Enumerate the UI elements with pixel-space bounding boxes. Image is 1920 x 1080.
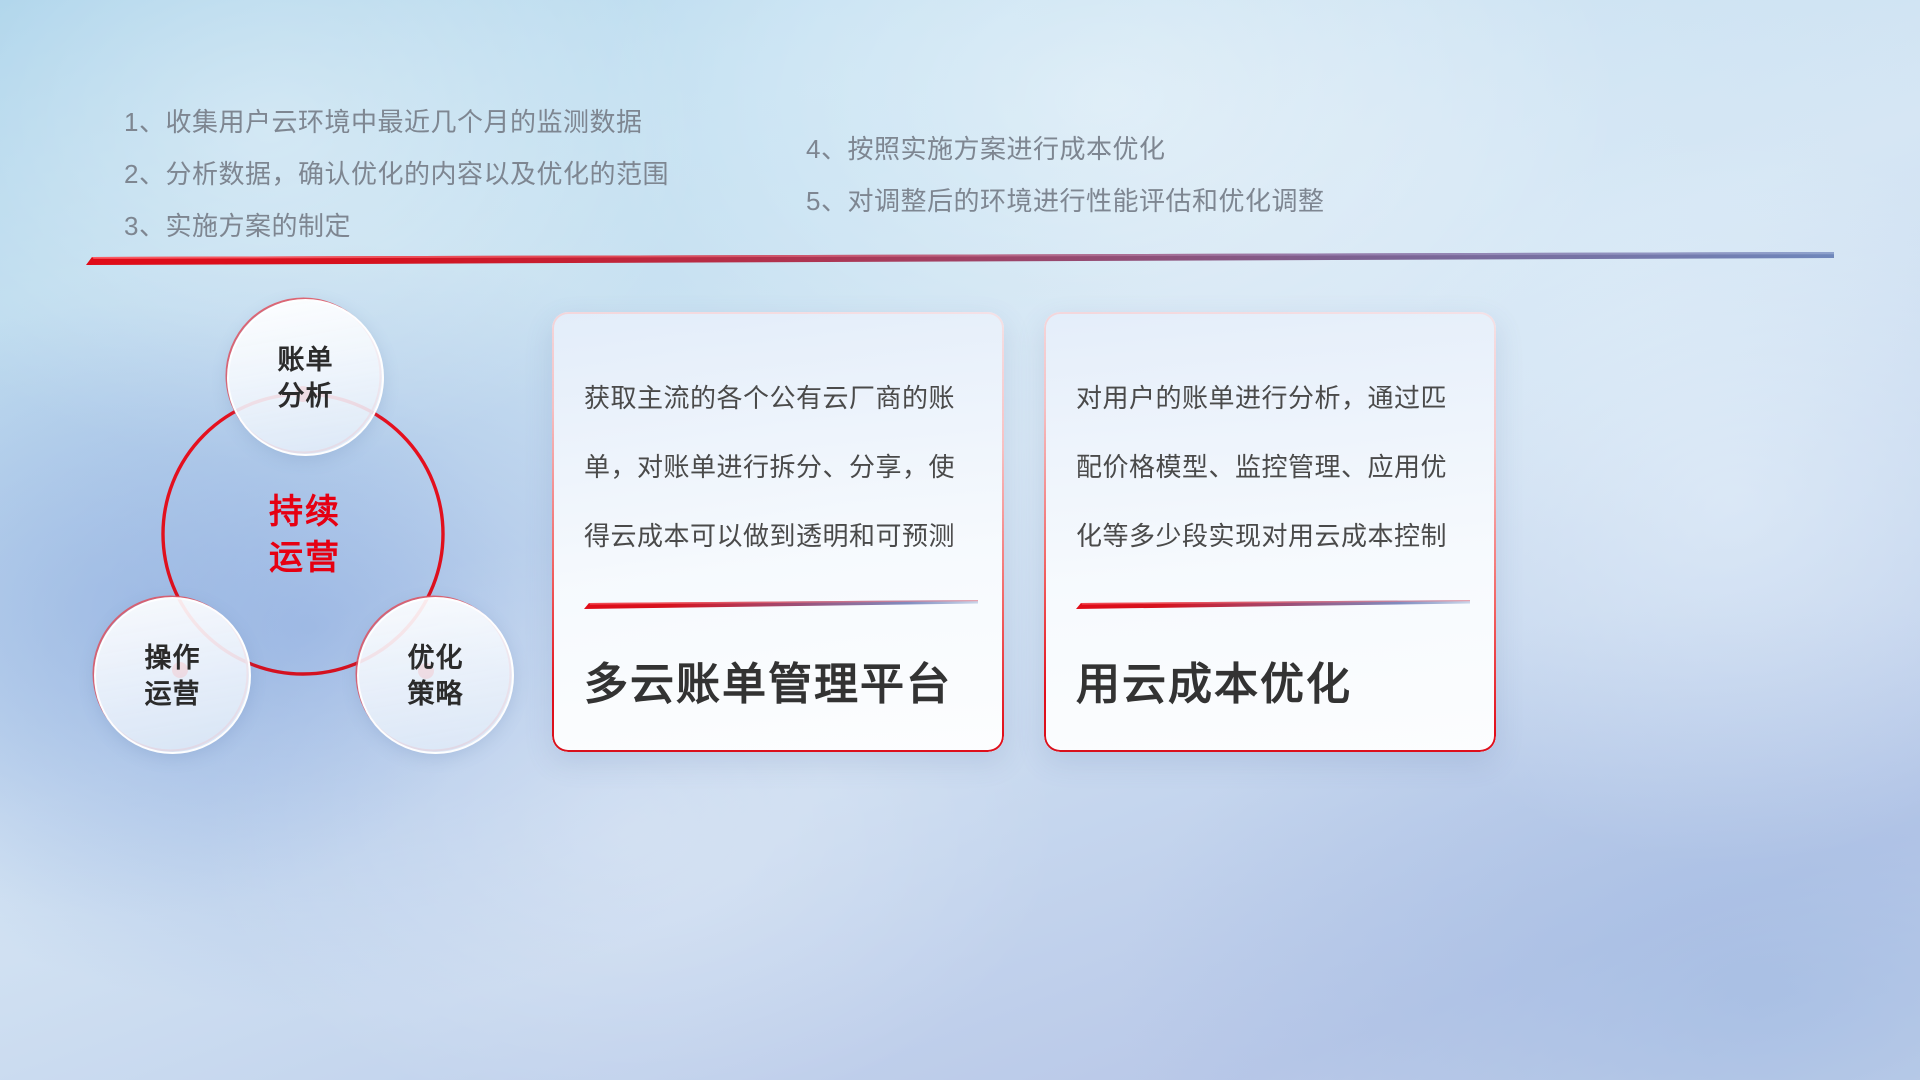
bullet-list-right: 4、按照实施方案进行成本优化 5、对调整后的环境进行性能评估和优化调整 [806, 123, 1324, 227]
circle-billing-analysis[interactable]: 账单 分析 [227, 299, 384, 456]
circle-label-line-2: 运营 [145, 676, 201, 712]
circle-label-line-1: 优化 [408, 640, 464, 676]
card-title: 多云账单管理平台 [584, 648, 980, 712]
bullet-list-left: 1、收集用户云环境中最近几个月的监测数据 2、分析数据，确认优化的内容以及优化的… [124, 96, 669, 252]
center-label-line-2: 运营 [235, 535, 375, 581]
card-body-text: 获取主流的各个公有云厂商的账 单，对账单进行拆分、分享，使 得云成本可以做到透明… [584, 364, 974, 571]
bullet-item-5: 5、对调整后的环境进行性能评估和优化调整 [806, 175, 1324, 227]
card-body-line-3: 化等多少段实现对用云成本控制 [1076, 502, 1466, 571]
card-body-text: 对用户的账单进行分析，通过匹 配价格模型、监控管理、应用优 化等多少段实现对用云… [1076, 364, 1466, 571]
circle-operations[interactable]: 操作 运营 [94, 597, 251, 754]
slide-canvas: 1、收集用户云环境中最近几个月的监测数据 2、分析数据，确认优化的内容以及优化的… [0, 0, 1920, 1080]
card-cloud-cost-optimization[interactable]: 对用户的账单进行分析，通过匹 配价格模型、监控管理、应用优 化等多少段实现对用云… [1044, 312, 1496, 752]
circle-label-line-1: 操作 [145, 640, 201, 676]
section-divider [86, 252, 1834, 265]
card-body-line-3: 得云成本可以做到透明和可预测 [584, 502, 974, 571]
circle-label-line-2: 策略 [408, 676, 464, 712]
card-body-line-2: 配价格模型、监控管理、应用优 [1076, 433, 1466, 502]
bullet-item-3: 3、实施方案的制定 [124, 200, 669, 252]
circle-optimization-strategy[interactable]: 优化 策略 [357, 597, 514, 754]
card-body-line-2: 单，对账单进行拆分、分享，使 [584, 433, 974, 502]
center-label-line-1: 持续 [235, 489, 375, 535]
bullet-item-4: 4、按照实施方案进行成本优化 [806, 123, 1324, 175]
circle-label-line-2: 分析 [278, 378, 334, 414]
card-multi-cloud-billing-platform[interactable]: 获取主流的各个公有云厂商的账 单，对账单进行拆分、分享，使 得云成本可以做到透明… [552, 312, 1004, 752]
card-divider [1076, 600, 1470, 609]
card-body-line-1: 获取主流的各个公有云厂商的账 [584, 364, 974, 433]
card-divider [584, 600, 978, 609]
continuous-operation-diagram: 账单 分析 操作 运营 优化 策略 持续 运营 [80, 290, 540, 760]
diagram-center-label: 持续 运营 [235, 489, 375, 581]
bullet-item-1: 1、收集用户云环境中最近几个月的监测数据 [124, 96, 669, 148]
circle-label-line-1: 账单 [278, 342, 334, 378]
card-body-line-1: 对用户的账单进行分析，通过匹 [1076, 364, 1466, 433]
bullet-item-2: 2、分析数据，确认优化的内容以及优化的范围 [124, 148, 669, 200]
card-title: 用云成本优化 [1076, 648, 1472, 712]
